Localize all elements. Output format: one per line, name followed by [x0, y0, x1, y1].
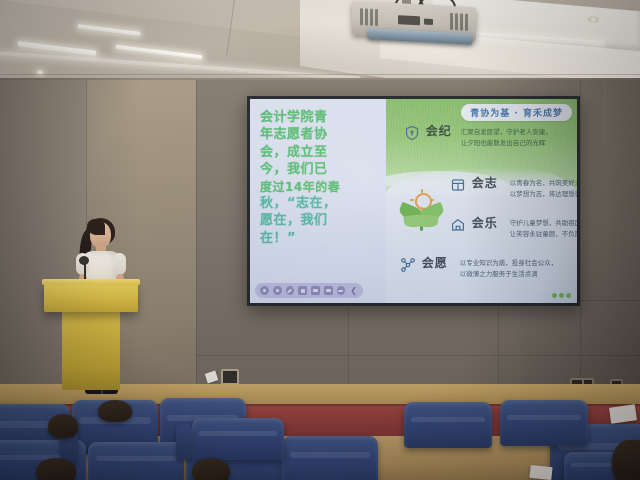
- seat[interactable]: [500, 400, 588, 446]
- hair-fringe: [87, 219, 105, 235]
- sleeve-right: [113, 253, 126, 275]
- ceiling-seam: [0, 74, 640, 75]
- audience-head: [192, 458, 230, 480]
- audience-head: [36, 458, 76, 480]
- microphone-head: [79, 256, 89, 265]
- podium-top-surface: [42, 279, 140, 285]
- ceiling: [0, 0, 640, 86]
- auditorium-presentation-photo: 会计学院青 年志愿者协 会，成立至 今，我们已 度过14年的春 秋，“志在， 愿…: [0, 0, 640, 480]
- seat[interactable]: [404, 402, 492, 448]
- ceiling-downlight: [588, 16, 599, 23]
- podium-body: [62, 310, 120, 390]
- handout-paper[interactable]: [529, 465, 552, 480]
- seat[interactable]: [282, 436, 378, 480]
- podium: [44, 282, 138, 312]
- seat[interactable]: [192, 418, 284, 460]
- audience-head: [98, 400, 132, 422]
- seat[interactable]: [88, 442, 184, 480]
- audience-head: [48, 414, 78, 438]
- seat-armrest: [176, 424, 192, 460]
- audience-head: [612, 440, 640, 480]
